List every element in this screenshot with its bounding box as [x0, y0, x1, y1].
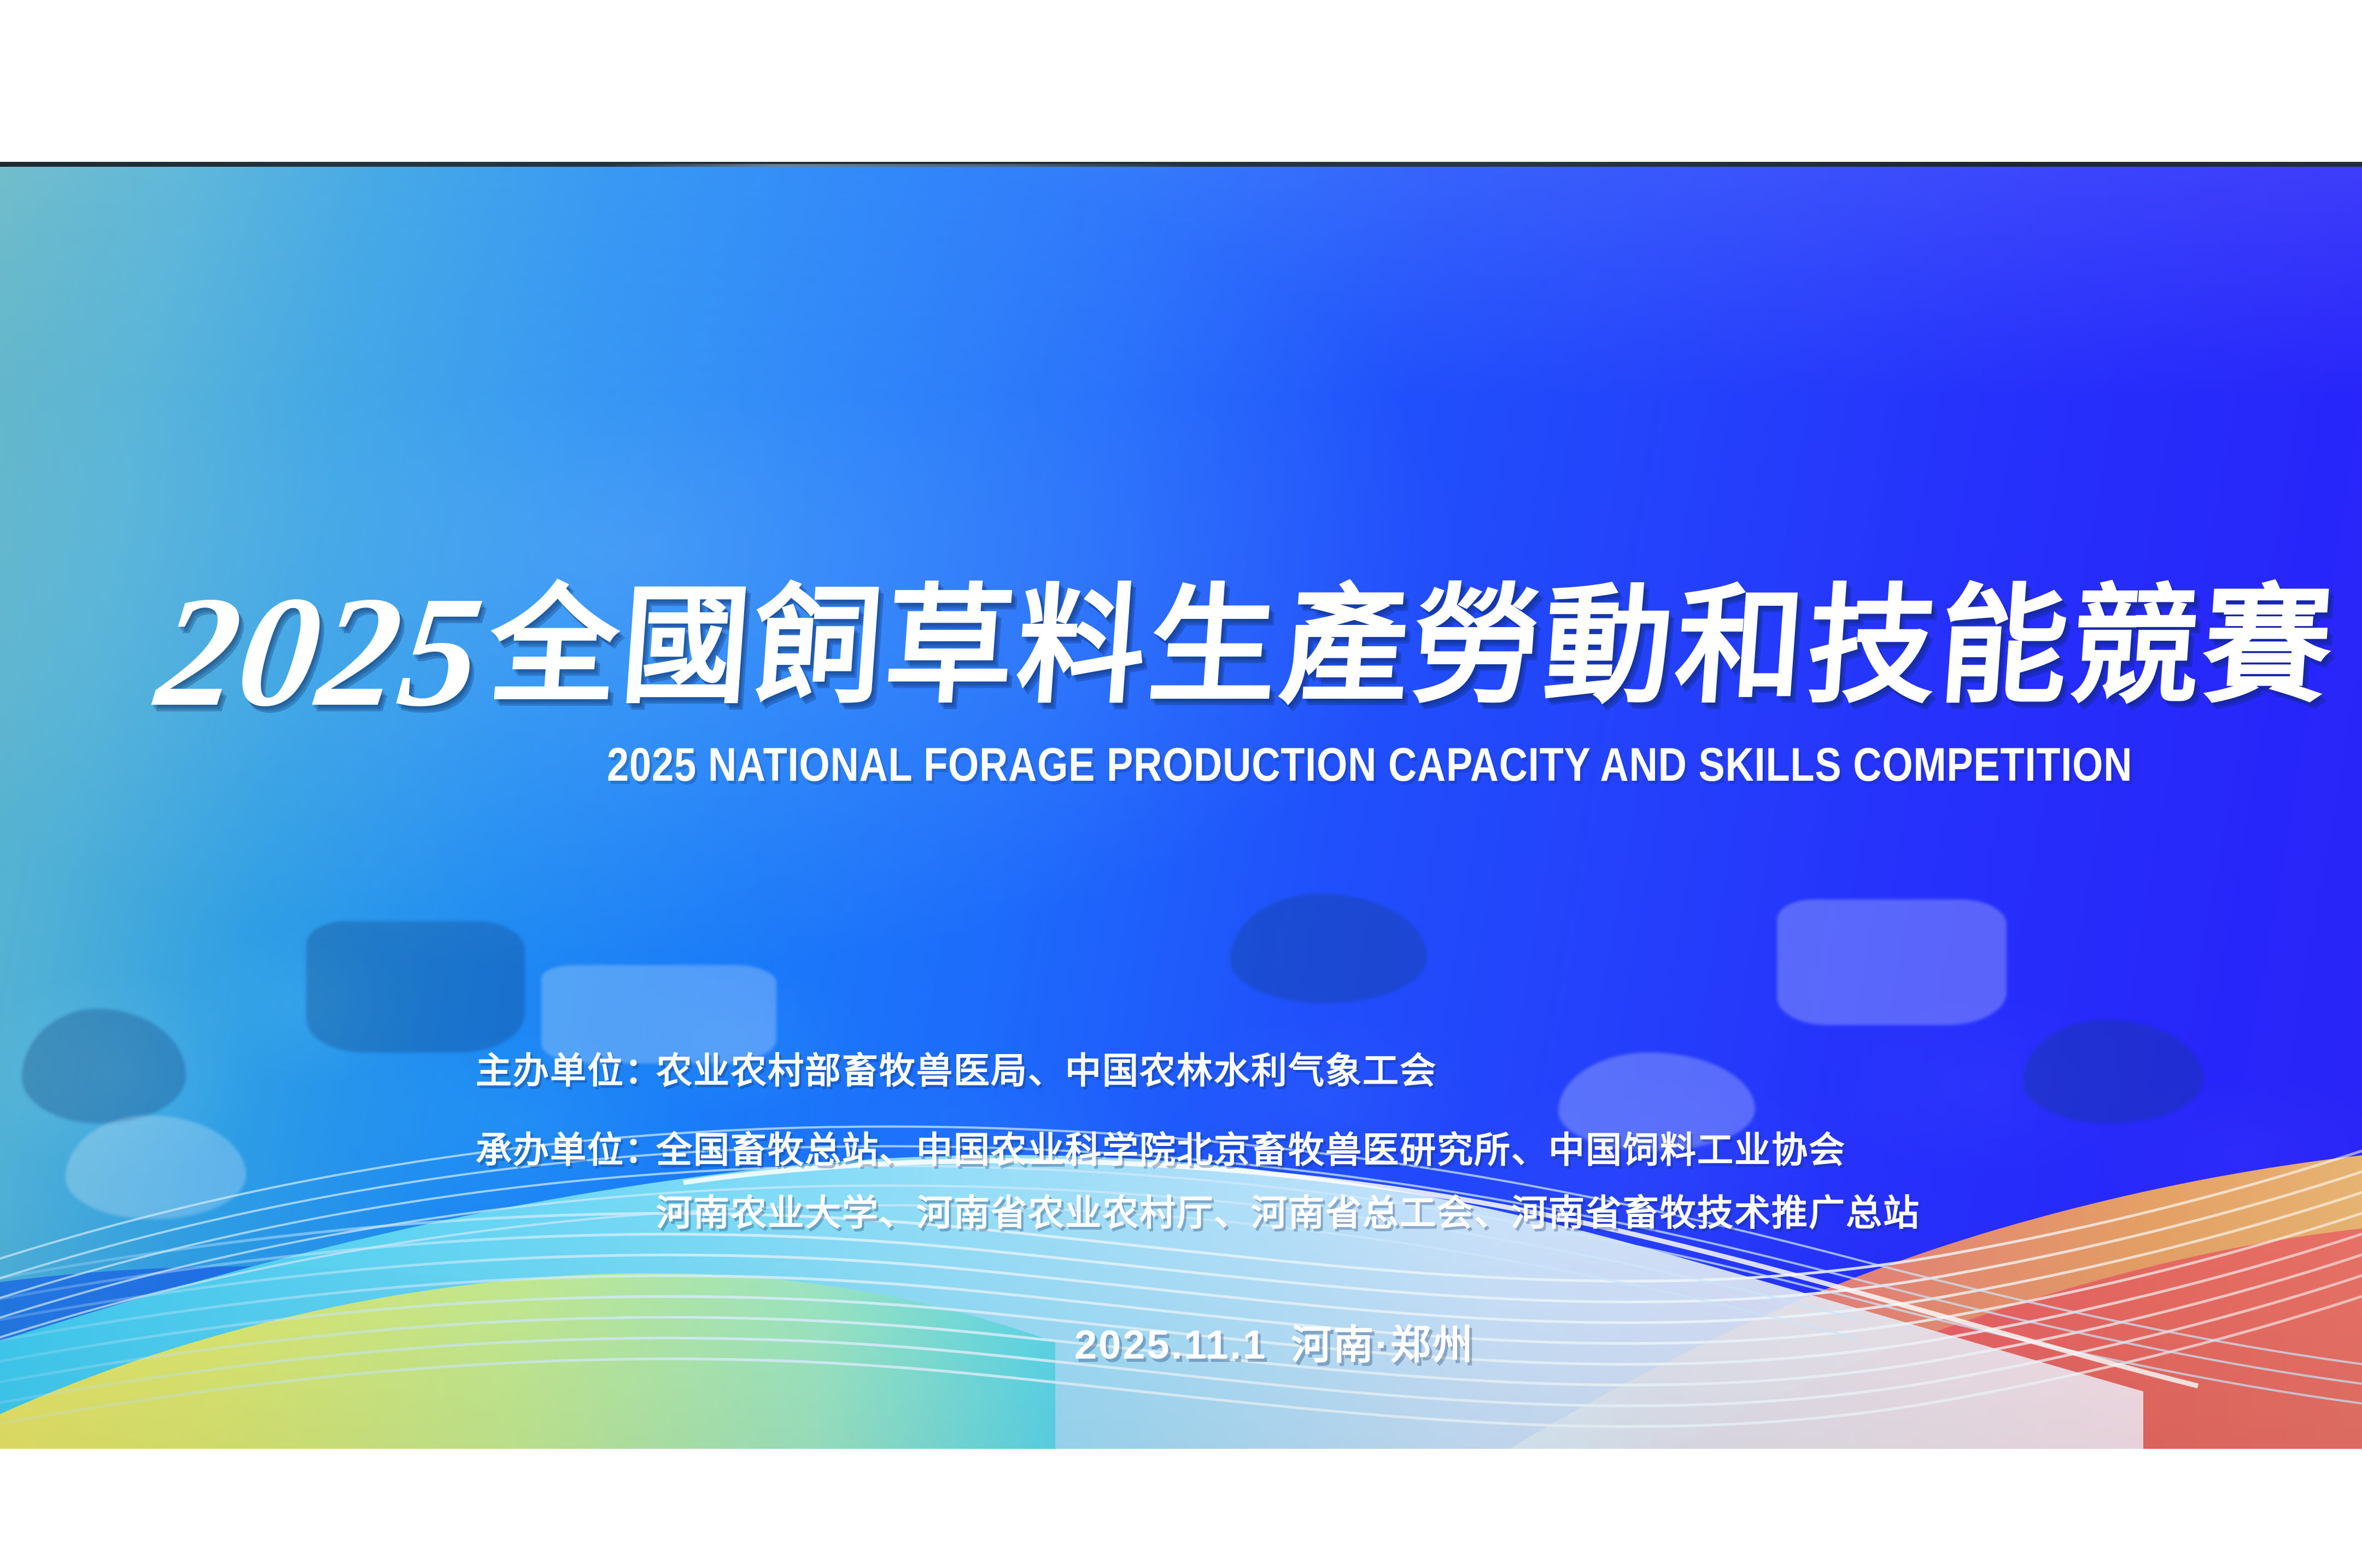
- banner-text-block: 2025全國飼草料生產勞動和技能競賽 2025 NATIONAL FORAGE …: [0, 167, 2362, 1449]
- stage-backdrop: 2025全國飼草料生產勞動和技能競賽 2025 NATIONAL FORAGE …: [0, 167, 2362, 1449]
- organizer-line-coorganizer: 承办单位：全国畜牧总站、中国农业科学院北京畜牧兽医研究所、中国饲料工业协会: [476, 1121, 1846, 1173]
- organizer-value-coorganizer-continued: 河南农业大学、河南省农业农村厅、河南省总工会、河南省畜牧技术推广总站: [656, 1192, 1920, 1233]
- organizer-value-coorganizer: 全国畜牧总站、中国农业科学院北京畜牧兽医研究所、中国饲料工业协会: [656, 1130, 1846, 1170]
- event-location: 河南·郑州: [1291, 1322, 1475, 1367]
- photograph: 2025全國飼草料生產勞動和技能競賽 2025 NATIONAL FORAGE …: [0, 0, 2362, 1568]
- subtitle-english: 2025 NATIONAL FORAGE PRODUCTION CAPACITY…: [607, 738, 2132, 792]
- main-title: 2025全國飼草料生產勞動和技能競賽: [160, 574, 2237, 729]
- organizer-line-coorganizer-continued: 河南农业大学、河南省农业农村厅、河南省总工会、河南省畜牧技术推广总站: [656, 1184, 1920, 1236]
- organizer-label-coorganizer: 承办单位：: [476, 1121, 656, 1173]
- organizer-value-host: 农业农村部畜牧兽医局、中国农林水利气象工会: [656, 1050, 1437, 1091]
- organizer-line-host: 主办单位：农业农村部畜牧兽医局、中国农林水利气象工会: [476, 1042, 1437, 1094]
- organizer-label-host: 主办单位：: [476, 1042, 656, 1094]
- event-date: 2025.11.1: [1074, 1322, 1267, 1367]
- title-chinese: 全國飼草料生產勞動和技能競賽: [486, 583, 2339, 712]
- title-year: 2025: [150, 574, 491, 729]
- date-location-line: 2025.11.1河南·郑州: [1074, 1312, 1475, 1371]
